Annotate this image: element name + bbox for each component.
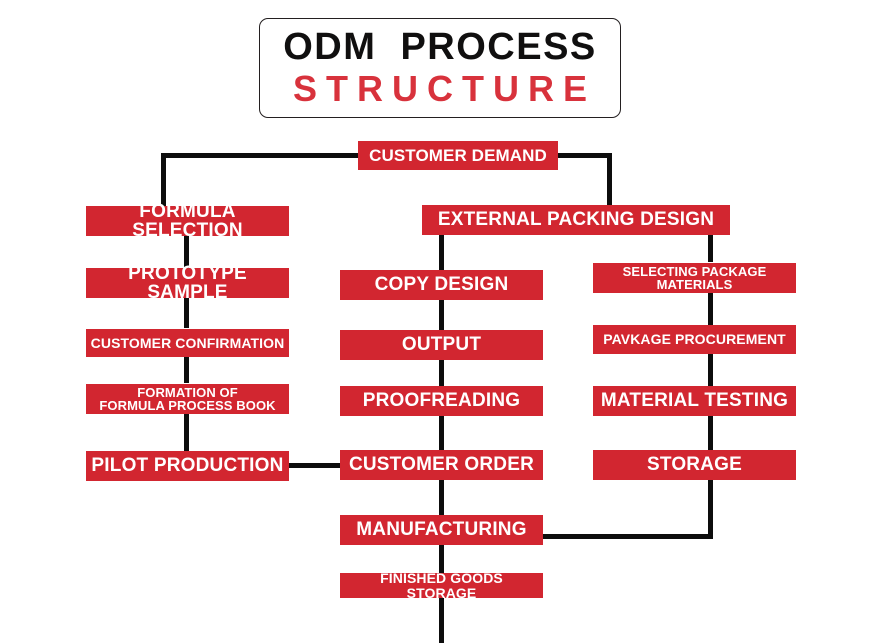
node-customer-order[interactable]: CUSTOMER ORDER [340,450,543,480]
flowchart-canvas: ODM PROCESS STRUCTURE CUSTOMER DEMAND EX… [0,0,880,643]
title-line-secondary: STRUCTURE [284,70,596,108]
connector-output-to-proofreading [439,359,444,386]
node-pilot-production[interactable]: PILOT PRODUCTION [86,451,289,481]
connector-packing-to-selecting-materials [708,235,713,262]
connector-packing-to-copy-design [439,235,444,270]
title-line-primary: ODM PROCESS [283,28,597,68]
node-finished-goods-storage[interactable]: FINISHED GOODS STORAGE [340,573,543,598]
connector-formation-to-pilot [184,414,189,451]
connector-demand-to-packing-horizontal [554,153,612,158]
node-material-testing[interactable]: MATERIAL TESTING [593,386,796,416]
connector-demand-to-formula-horizontal [161,153,363,158]
connector-material-testing-to-storage [708,415,713,450]
node-prototype-sample[interactable]: PROTOTYPE SAMPLE [86,268,289,298]
connector-finished-goods-outflow [439,597,444,643]
node-proofreading[interactable]: PROOFREADING [340,386,543,416]
node-external-packing-design[interactable]: EXTERNAL PACKING DESIGN [422,205,730,235]
connector-proofreading-to-customer-order [439,415,444,450]
connector-customer-order-to-manufacturing [439,479,444,515]
node-selecting-package-materials[interactable]: SELECTING PACKAGE MATERIALS [593,263,796,293]
node-customer-demand[interactable]: CUSTOMER DEMAND [358,141,558,170]
node-formula-selection[interactable]: FORMULA SELECTION [86,206,289,236]
node-output[interactable]: OUTPUT [340,330,543,360]
node-formation-of-formula-process-book[interactable]: FORMATION OF FORMULA PROCESS BOOK [86,384,289,414]
node-pavkage-procurement[interactable]: PAVKAGE PROCUREMENT [593,325,796,354]
connector-confirmation-to-formation [184,357,189,383]
connector-demand-to-packing-vertical [607,153,612,209]
title-box: ODM PROCESS STRUCTURE [259,18,621,118]
connector-pilot-to-customer-order [288,463,342,468]
connector-storage-to-manufacturing-horizontal [540,534,713,539]
node-customer-confirmation[interactable]: CUSTOMER CONFIRMATION [86,329,289,357]
node-manufacturing[interactable]: MANUFACTURING [340,515,543,545]
node-copy-design[interactable]: COPY DESIGN [340,270,543,300]
connector-copy-design-to-output [439,299,444,330]
connector-selecting-to-procurement [708,293,713,325]
node-storage[interactable]: STORAGE [593,450,796,480]
connector-procurement-to-material-testing [708,354,713,386]
connector-manufacturing-to-finished-goods [439,544,444,573]
connector-storage-down-vertical [708,479,713,539]
